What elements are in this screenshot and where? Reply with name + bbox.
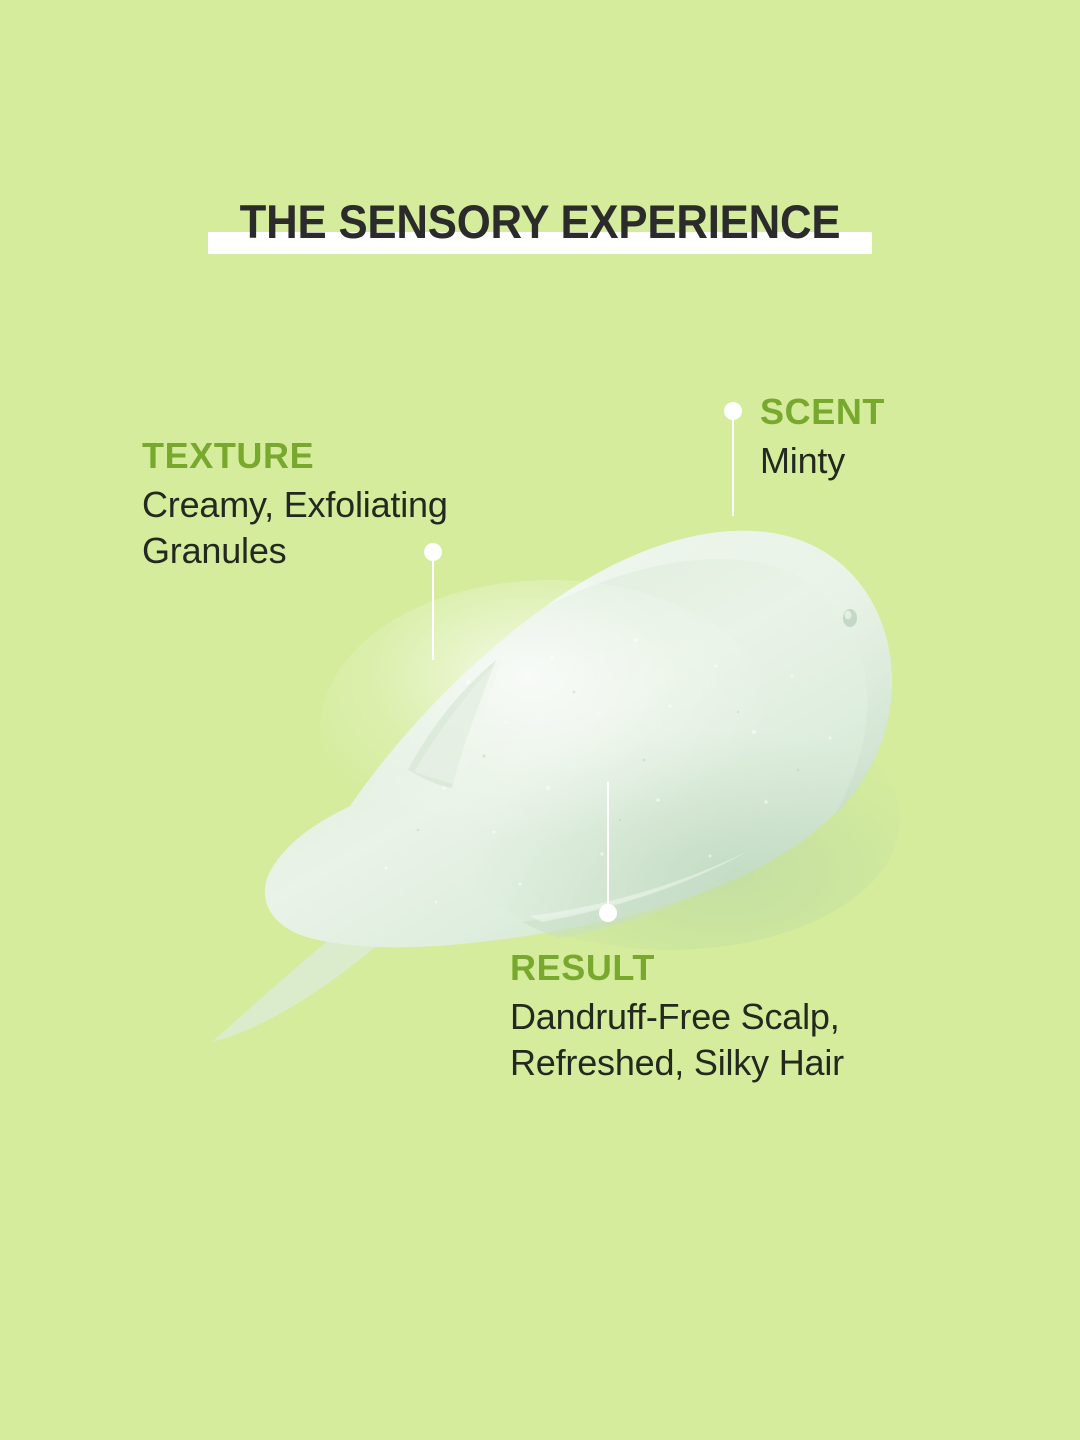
leader-line-scent	[732, 414, 734, 516]
swatch-fold	[408, 660, 496, 788]
callout-texture-value: Creamy, Exfoliating Granules	[142, 482, 562, 574]
swatch-lower-ridge	[522, 856, 746, 938]
leader-dot-scent	[724, 402, 742, 420]
sensory-experience-infographic: THE SENSORY EXPERIENCE	[0, 0, 1080, 1440]
leader-dot-result	[599, 904, 617, 922]
leader-line-result	[607, 782, 609, 910]
callout-result-value: Dandruff-Free Scalp, Refreshed, Silky Ha…	[510, 994, 950, 1086]
swatch-body	[265, 531, 892, 948]
page-title: THE SENSORY EXPERIENCE	[38, 196, 1042, 248]
callout-texture-label: TEXTURE	[142, 436, 562, 476]
swatch-rim-highlight	[546, 531, 892, 816]
callout-scent-label: SCENT	[760, 392, 1060, 432]
swatch-shadow	[440, 690, 900, 950]
callout-texture: TEXTURE Creamy, Exfoliating Granules	[142, 436, 562, 574]
callout-scent-value: Minty	[760, 438, 1060, 484]
swatch-bubble	[843, 609, 857, 627]
callout-result: RESULT Dandruff-Free Scalp, Refreshed, S…	[510, 948, 950, 1086]
page-title-block: THE SENSORY EXPERIENCE	[0, 196, 1080, 266]
callout-result-label: RESULT	[510, 948, 950, 988]
callout-scent: SCENT Minty	[760, 392, 1060, 484]
swatch-fold-edge	[414, 658, 502, 786]
swatch-bubble-gloss	[845, 611, 852, 620]
swatch-highlight	[320, 580, 780, 880]
swatch-lower-ridge-light	[530, 850, 750, 922]
